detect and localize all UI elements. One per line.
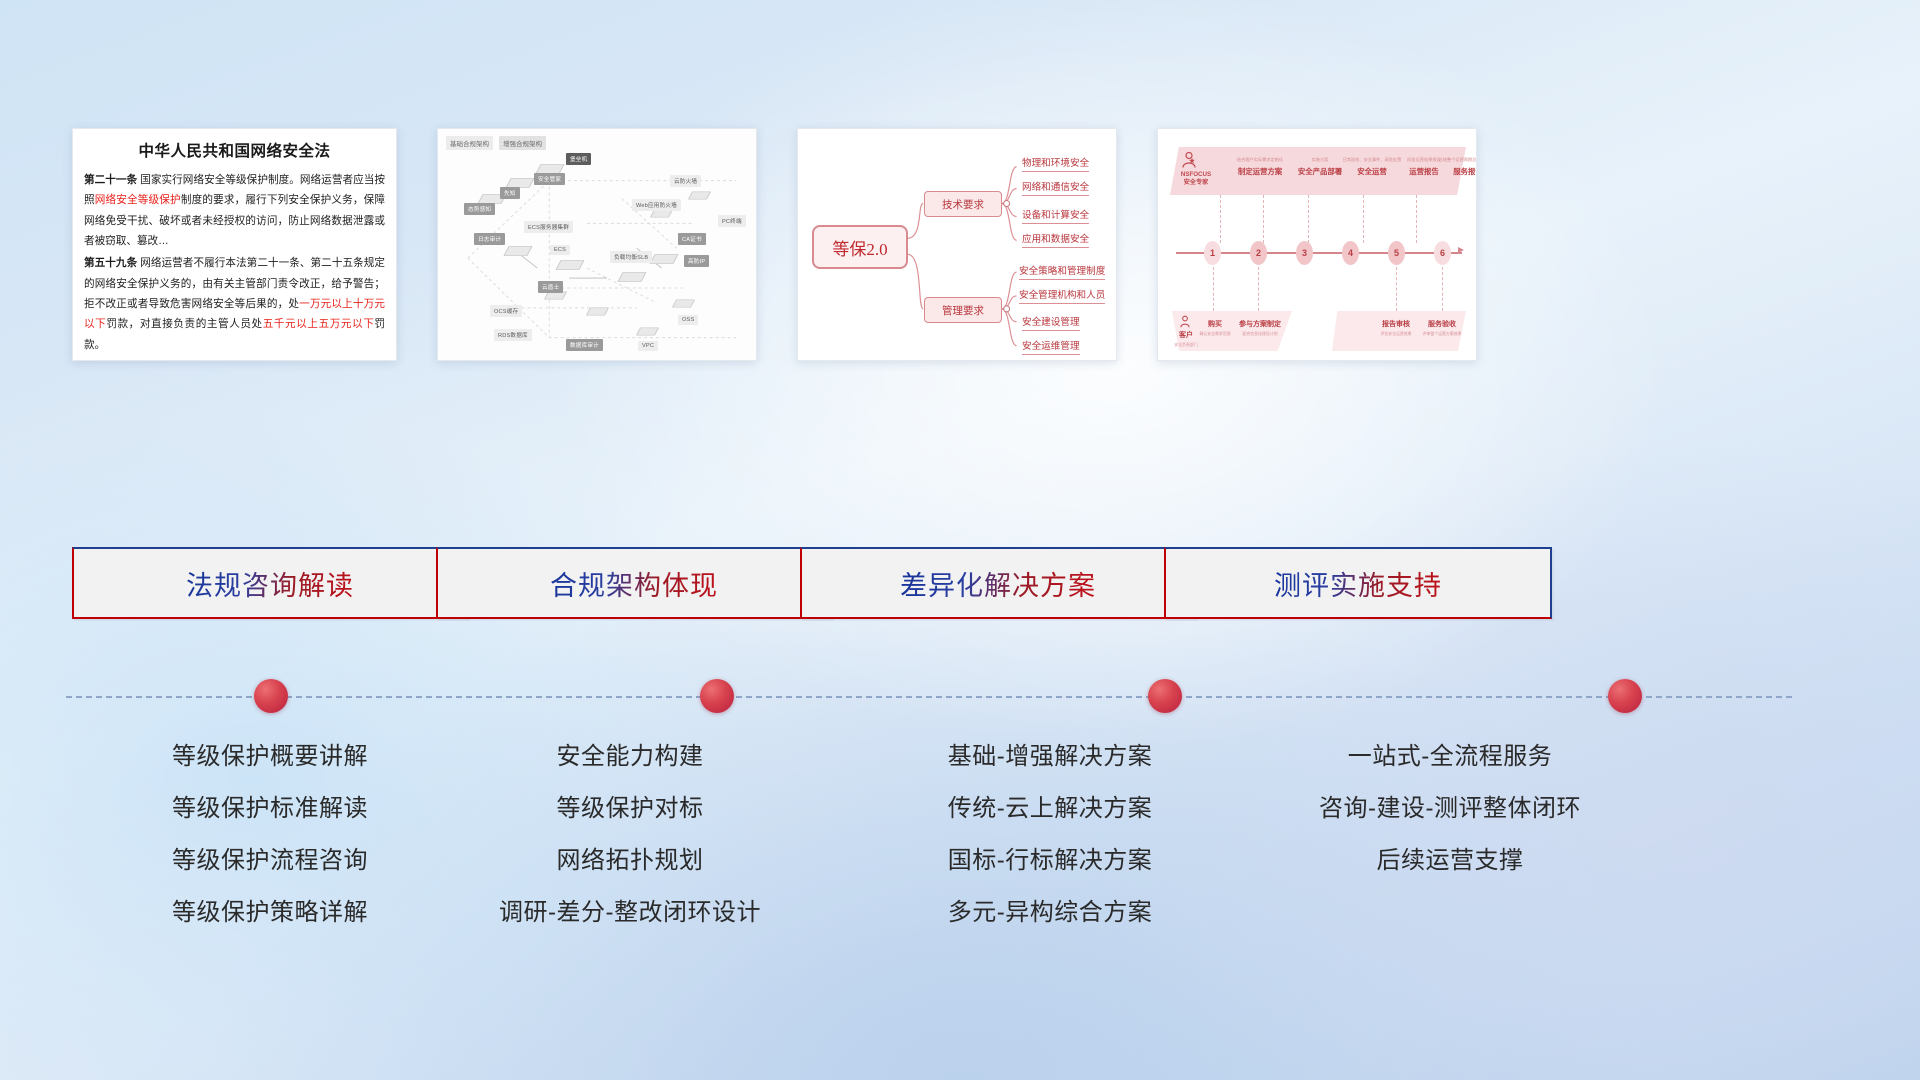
- law-article-59: 第五十九条 网络运营者不履行本法第二十一条、第二十五条规定的网络安全保护义务的，…: [84, 253, 385, 355]
- list-item: 等级保护标准解读: [60, 797, 480, 821]
- arch-node-7: 高防IP: [684, 255, 709, 267]
- mindmap-leaf-mgmt-1: 安全策略和管理制度: [1019, 263, 1105, 280]
- law-article-21-highlight: 网络安全等级保护: [95, 194, 181, 206]
- card-service-timeline: NSFOCUS 安全专家 结合客户实际需求定制化 制定运营方案 实施方案 安全产…: [1157, 128, 1477, 361]
- timeline-node-2: 2: [1250, 241, 1267, 265]
- arch-node-18: PC终端: [718, 215, 746, 227]
- architecture-tab-basic[interactable]: 基础合规架构: [446, 136, 493, 150]
- arch-node-17: 日志审计: [474, 233, 505, 245]
- timeline-drop-4: [1363, 195, 1364, 243]
- expert-person-icon: [1180, 151, 1198, 169]
- card-law-document: 中华人民共和国网络安全法 第二十一条 国家实行网络安全等级保护制度。网络运营者应…: [72, 128, 397, 361]
- law-article-59-label: 第五十九条: [84, 257, 137, 269]
- section-title-box-3[interactable]: 差异化解决方案: [800, 547, 1196, 619]
- list-item: 调研-差分-整改闭环设计: [420, 901, 840, 925]
- bullet-column-1: 等级保护概要讲解 等级保护标准解读 等级保护流程咨询 等级保护策略详解: [60, 745, 480, 925]
- timeline-drop-2: [1263, 195, 1264, 243]
- list-item: 多元-异构综合方案: [840, 901, 1260, 925]
- architecture-tabs: 基础合规架构 增强合规架构: [446, 136, 546, 150]
- mindmap-leaf-tech-4: 应用和数据安全: [1022, 231, 1089, 248]
- timeline-foot-2: 参与方案制定 配合信息化建设计划: [1234, 319, 1286, 337]
- timeline-foot-1: 购买 确认安全需求范围: [1196, 319, 1234, 337]
- timeline-foot-1-title: 购买: [1196, 319, 1234, 329]
- timeline-foot-4: 服务验收 评审整个运营方案效果: [1416, 319, 1468, 337]
- mindmap-leaf-mgmt-2: 安全管理机构和人员: [1019, 287, 1105, 304]
- law-article-59-mid: 罚款，对直接负责的主管人员处: [106, 318, 262, 330]
- timeline-step-5-title: 服务报告: [1430, 166, 1477, 177]
- card-architecture-diagram: 基础合规架构 增强合规架构 堡垒机 安全管家 先知 态势感知 云防火墙 Web应…: [437, 128, 757, 361]
- timeline-arrow-icon: [1458, 247, 1464, 253]
- section-title-3: 差异化解决方案: [900, 564, 1096, 603]
- mindmap-leaf-mgmt-3: 安全建设管理: [1022, 314, 1080, 331]
- timeline-drop-9: [1442, 267, 1443, 311]
- law-article-21: 第二十一条 国家实行网络安全等级保护制度。网络运营者应当按照网络安全等级保护制度…: [84, 170, 385, 251]
- list-item: 等级保护概要讲解: [60, 745, 480, 769]
- rail-dot-3[interactable]: [1148, 679, 1182, 713]
- timeline-node-5: 5: [1388, 241, 1405, 265]
- timeline-foot-4-title: 服务验收: [1416, 319, 1468, 329]
- mindmap-leaf-mgmt-4: 安全运维管理: [1022, 338, 1080, 355]
- mindmap-canvas: 等保2.0 技术要求 物理和环境安全 网络和通信安全 设备和计算安全 应用和数据…: [798, 129, 1116, 360]
- list-item: 咨询-建设-测评整体闭环: [1240, 797, 1660, 821]
- list-item: 国标-行标解决方案: [840, 849, 1260, 873]
- law-article-59-highlight-2: 五千元以上五万元以下: [263, 318, 375, 330]
- rail-dot-4[interactable]: [1608, 679, 1642, 713]
- arch-node-4: 云防火墙: [670, 175, 701, 187]
- arch-node-9: 负载均衡SLB: [610, 251, 652, 263]
- timeline-foot-3-title: 报告审核: [1370, 319, 1422, 329]
- timeline-foot-2-title: 参与方案制定: [1234, 319, 1286, 329]
- timeline-drop-6: [1213, 267, 1214, 311]
- timeline-foot-3: 报告审核 评估安全运营效果: [1370, 319, 1422, 337]
- arch-node-15: 数据库审计: [566, 339, 603, 351]
- section-title-box-4[interactable]: 测评实施支持: [1164, 547, 1552, 619]
- timeline-drop-8: [1396, 267, 1397, 311]
- law-document-body: 中华人民共和国网络安全法 第二十一条 国家实行网络安全等级保护制度。网络运营者应…: [73, 129, 396, 360]
- timeline-drop-5: [1416, 195, 1417, 243]
- timeline-client-sub: 安全负责部门: [1170, 342, 1202, 348]
- list-item: 网络拓扑规划: [420, 849, 840, 873]
- timeline-foot-1-sub: 确认安全需求范围: [1196, 331, 1234, 337]
- mindmap-leaf-tech-1: 物理和环境安全: [1022, 155, 1089, 172]
- bullet-column-2: 安全能力构建 等级保护对标 网络拓扑规划 调研-差分-整改闭环设计: [420, 745, 840, 925]
- list-item: 后续运营支撑: [1240, 849, 1660, 873]
- mindmap-branch-management: 管理要求: [924, 297, 1002, 323]
- arch-node-3: 态势感知: [464, 203, 495, 215]
- arch-node-0: 堡垒机: [566, 153, 591, 165]
- law-title: 中华人民共和国网络安全法: [84, 139, 385, 161]
- timeline-node-6: 6: [1434, 241, 1451, 265]
- arch-node-14: VPC: [638, 341, 658, 351]
- bullet-column-4: 一站式-全流程服务 咨询-建设-测评整体闭环 后续运营支撑: [1240, 745, 1660, 873]
- timeline-node-3: 3: [1296, 241, 1313, 265]
- architecture-canvas: 基础合规架构 增强合规架构 堡垒机 安全管家 先知 态势感知 云防火墙 Web应…: [438, 129, 756, 360]
- timeline-step-5-sub: 总结整个运营周期总体运营效果: [1430, 157, 1477, 163]
- mindmap-branch-technical: 技术要求: [924, 191, 1002, 217]
- architecture-tab-enhanced[interactable]: 增强合规架构: [499, 136, 546, 150]
- law-article-21-label: 第二十一条: [84, 174, 137, 186]
- section-title-2: 合规架构体现: [550, 564, 718, 603]
- arch-node-13: OSS: [678, 315, 698, 325]
- section-title-4: 测评实施支持: [1274, 564, 1442, 603]
- list-item: 一站式-全流程服务: [1240, 745, 1660, 769]
- arch-node-2: 先知: [500, 187, 520, 199]
- card-mindmap: 等保2.0 技术要求 物理和环境安全 网络和通信安全 设备和计算安全 应用和数据…: [797, 128, 1117, 361]
- mindmap-leaf-tech-3: 设备和计算安全: [1022, 207, 1089, 224]
- list-item: 传统-云上解决方案: [840, 797, 1260, 821]
- mindmap-leaf-tech-2: 网络和通信安全: [1022, 179, 1089, 196]
- timeline-foot-2-sub: 配合信息化建设计划: [1234, 331, 1286, 337]
- arch-node-16: ECS服务器集群: [524, 221, 573, 233]
- timeline-expert-label: NSFOCUS 安全专家: [1174, 171, 1218, 188]
- timeline-drop-3: [1308, 195, 1309, 243]
- arch-node-8: ECS: [550, 245, 570, 255]
- timeline-foot-3-sub: 评估安全运营效果: [1370, 331, 1422, 337]
- timeline-canvas: NSFOCUS 安全专家 结合客户实际需求定制化 制定运营方案 实施方案 安全产…: [1158, 129, 1476, 360]
- timeline-drop-7: [1258, 267, 1259, 311]
- section-title-box-1[interactable]: 法规咨询解读: [72, 547, 468, 619]
- arch-node-10: 云盾士: [538, 281, 563, 293]
- rail-dot-2[interactable]: [700, 679, 734, 713]
- timeline-step-5: 总结整个运营周期总体运营效果 服务报告: [1430, 157, 1477, 177]
- arch-node-12: RDS数据库: [494, 329, 532, 341]
- timeline-node-1: 1: [1204, 241, 1221, 265]
- timeline-brand-line2: 安全专家: [1174, 179, 1218, 187]
- mindmap-core-node: 等保2.0: [812, 225, 908, 269]
- client-person-icon: [1178, 315, 1192, 329]
- arch-node-6: CA证书: [678, 233, 706, 245]
- bullet-column-3: 基础-增强解决方案 传统-云上解决方案 国标-行标解决方案 多元-异构综合方案: [840, 745, 1260, 925]
- timeline-drop-1: [1220, 195, 1221, 243]
- list-item: 等级保护策略详解: [60, 901, 480, 925]
- rail-dot-1[interactable]: [254, 679, 288, 713]
- arch-node-11: OCS缓存: [490, 305, 522, 317]
- arch-node-5: Web应用防火墙: [632, 199, 681, 211]
- list-item: 安全能力构建: [420, 745, 840, 769]
- section-title-box-2[interactable]: 合规架构体现: [436, 547, 832, 619]
- list-item: 等级保护对标: [420, 797, 840, 821]
- list-item: 等级保护流程咨询: [60, 849, 480, 873]
- section-title-1: 法规咨询解读: [186, 564, 354, 603]
- timeline-foot-4-sub: 评审整个运营方案效果: [1416, 331, 1468, 337]
- arch-node-1: 安全管家: [534, 173, 565, 185]
- timeline-node-4: 4: [1342, 241, 1359, 265]
- list-item: 基础-增强解决方案: [840, 745, 1260, 769]
- timeline-rail: [66, 696, 1792, 698]
- slide-canvas: 中华人民共和国网络安全法 第二十一条 国家实行网络安全等级保护制度。网络运营者应…: [0, 0, 1920, 1080]
